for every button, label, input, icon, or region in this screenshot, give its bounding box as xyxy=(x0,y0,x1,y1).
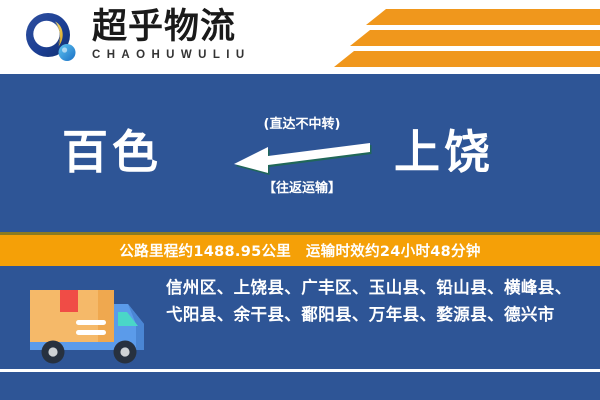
orange-speed-stripes-icon xyxy=(330,0,600,74)
district-line-2: 弋阳县、余干县、鄱阳县、万年县、婺源县、德兴市 xyxy=(166,301,590,328)
route-info-bar: 公路里程约1488.95公里 运输时效约24小时48分钟 xyxy=(0,232,600,266)
circular-q-logo-icon xyxy=(24,12,82,64)
delivery-truck-icon xyxy=(24,274,160,370)
bidirectional-arrow-icon xyxy=(232,137,372,177)
brand-name-cn: 超乎物流 xyxy=(92,8,292,46)
district-line-1: 信州区、上饶县、广丰区、玉山县、铅山县、横峰县、 xyxy=(166,274,590,301)
distance-and-duration-label: 公路里程约1488.95公里 运输时效约24小时48分钟 xyxy=(119,240,480,261)
destination-city-label: 上饶 xyxy=(394,124,494,180)
brand-text-block: 超乎物流 CHAOHUWULIU xyxy=(92,8,292,66)
brand-name-en: CHAOHUWULIU xyxy=(92,48,292,62)
origin-city-label: 百色 xyxy=(62,124,162,180)
route-arrow-group: (直达不中转) 【往返运输】 xyxy=(232,116,372,214)
banner-header: 超乎物流 CHAOHUWULIU xyxy=(0,0,600,74)
round-trip-caption: 【往返运输】 xyxy=(232,180,372,197)
direct-route-caption: (直达不中转) xyxy=(232,116,372,133)
road-divider-line xyxy=(0,369,600,372)
logistics-route-banner: 超乎物流 CHAOHUWULIU 百色 上饶 (直达不中转) xyxy=(0,0,600,400)
coverage-area: 信州区、上饶县、广丰区、玉山县、铅山县、横峰县、 弋阳县、余干县、鄱阳县、万年县… xyxy=(0,266,600,400)
covered-districts-list: 信州区、上饶县、广丰区、玉山县、铅山县、横峰县、 弋阳县、余干县、鄱阳县、万年县… xyxy=(166,274,590,328)
